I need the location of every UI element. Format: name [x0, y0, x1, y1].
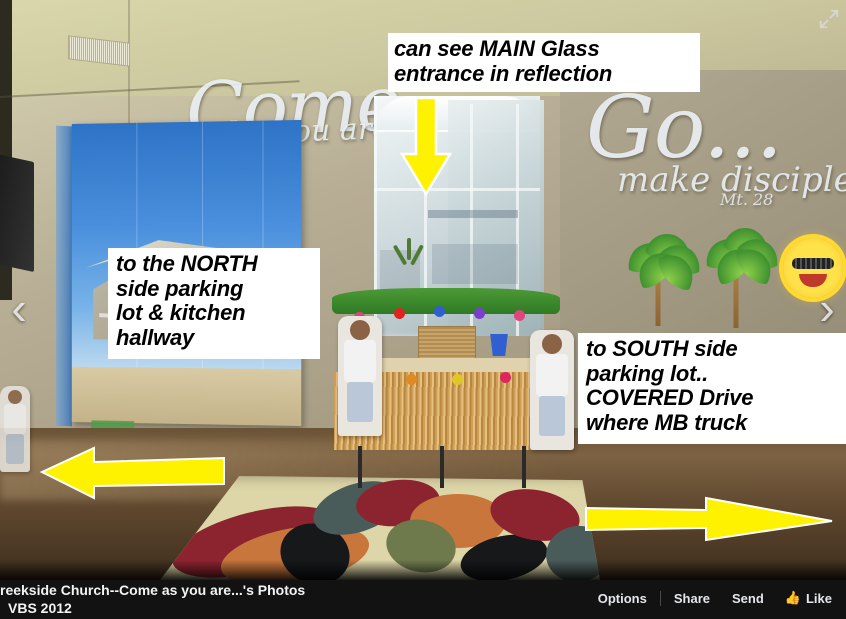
bottom-fade	[0, 560, 846, 580]
basket	[418, 326, 476, 360]
album-info: reekside Church--Come as you are...'s Ph…	[0, 582, 305, 617]
palm-tree-decoration	[706, 222, 766, 328]
down-arrow	[398, 96, 454, 198]
annotation-north-parking: to the NORTH side parking lot & kitchen …	[108, 248, 320, 359]
left-arrow	[38, 442, 228, 500]
photo-image[interactable]: Come you are Go... make disciples Mt. 28	[0, 0, 846, 580]
child-cutout-left	[338, 316, 382, 436]
photo-viewer: Come you are Go... make disciples Mt. 28	[0, 0, 846, 619]
divider	[660, 591, 661, 606]
wall-tv	[0, 154, 34, 272]
annotation-main-entrance: can see MAIN Glass entrance in reflectio…	[388, 33, 700, 92]
potted-plant	[396, 236, 422, 270]
banner-edge	[56, 126, 72, 427]
child-cutout-right	[530, 330, 574, 450]
expand-icon[interactable]	[818, 8, 840, 30]
right-arrow	[582, 488, 836, 544]
thumbs-up-icon: 👍	[785, 590, 801, 606]
child-cutout-edge	[0, 386, 30, 472]
footer-actions: Options Share Send 👍 Like	[587, 590, 838, 606]
next-photo-button[interactable]: ›	[810, 286, 844, 334]
send-button[interactable]: Send	[721, 591, 775, 606]
options-button[interactable]: Options	[587, 591, 658, 606]
album-title[interactable]: reekside Church--Come as you are...'s Ph…	[0, 582, 305, 600]
palm-tree-decoration	[628, 226, 688, 326]
sunglasses-icon	[792, 258, 834, 269]
window-reflection	[432, 244, 518, 284]
like-button[interactable]: 👍 Like	[775, 590, 838, 606]
share-button[interactable]: Share	[663, 591, 721, 606]
annotation-south-parking: to SOUTH side parking lot.. COVERED Driv…	[578, 333, 846, 444]
photo-footer-bar: reekside Church--Come as you are...'s Ph…	[0, 580, 846, 619]
album-subtitle[interactable]: VBS 2012	[0, 600, 305, 618]
previous-photo-button[interactable]: ‹	[2, 286, 36, 334]
like-label: Like	[806, 591, 832, 606]
window-reflection	[428, 210, 518, 218]
